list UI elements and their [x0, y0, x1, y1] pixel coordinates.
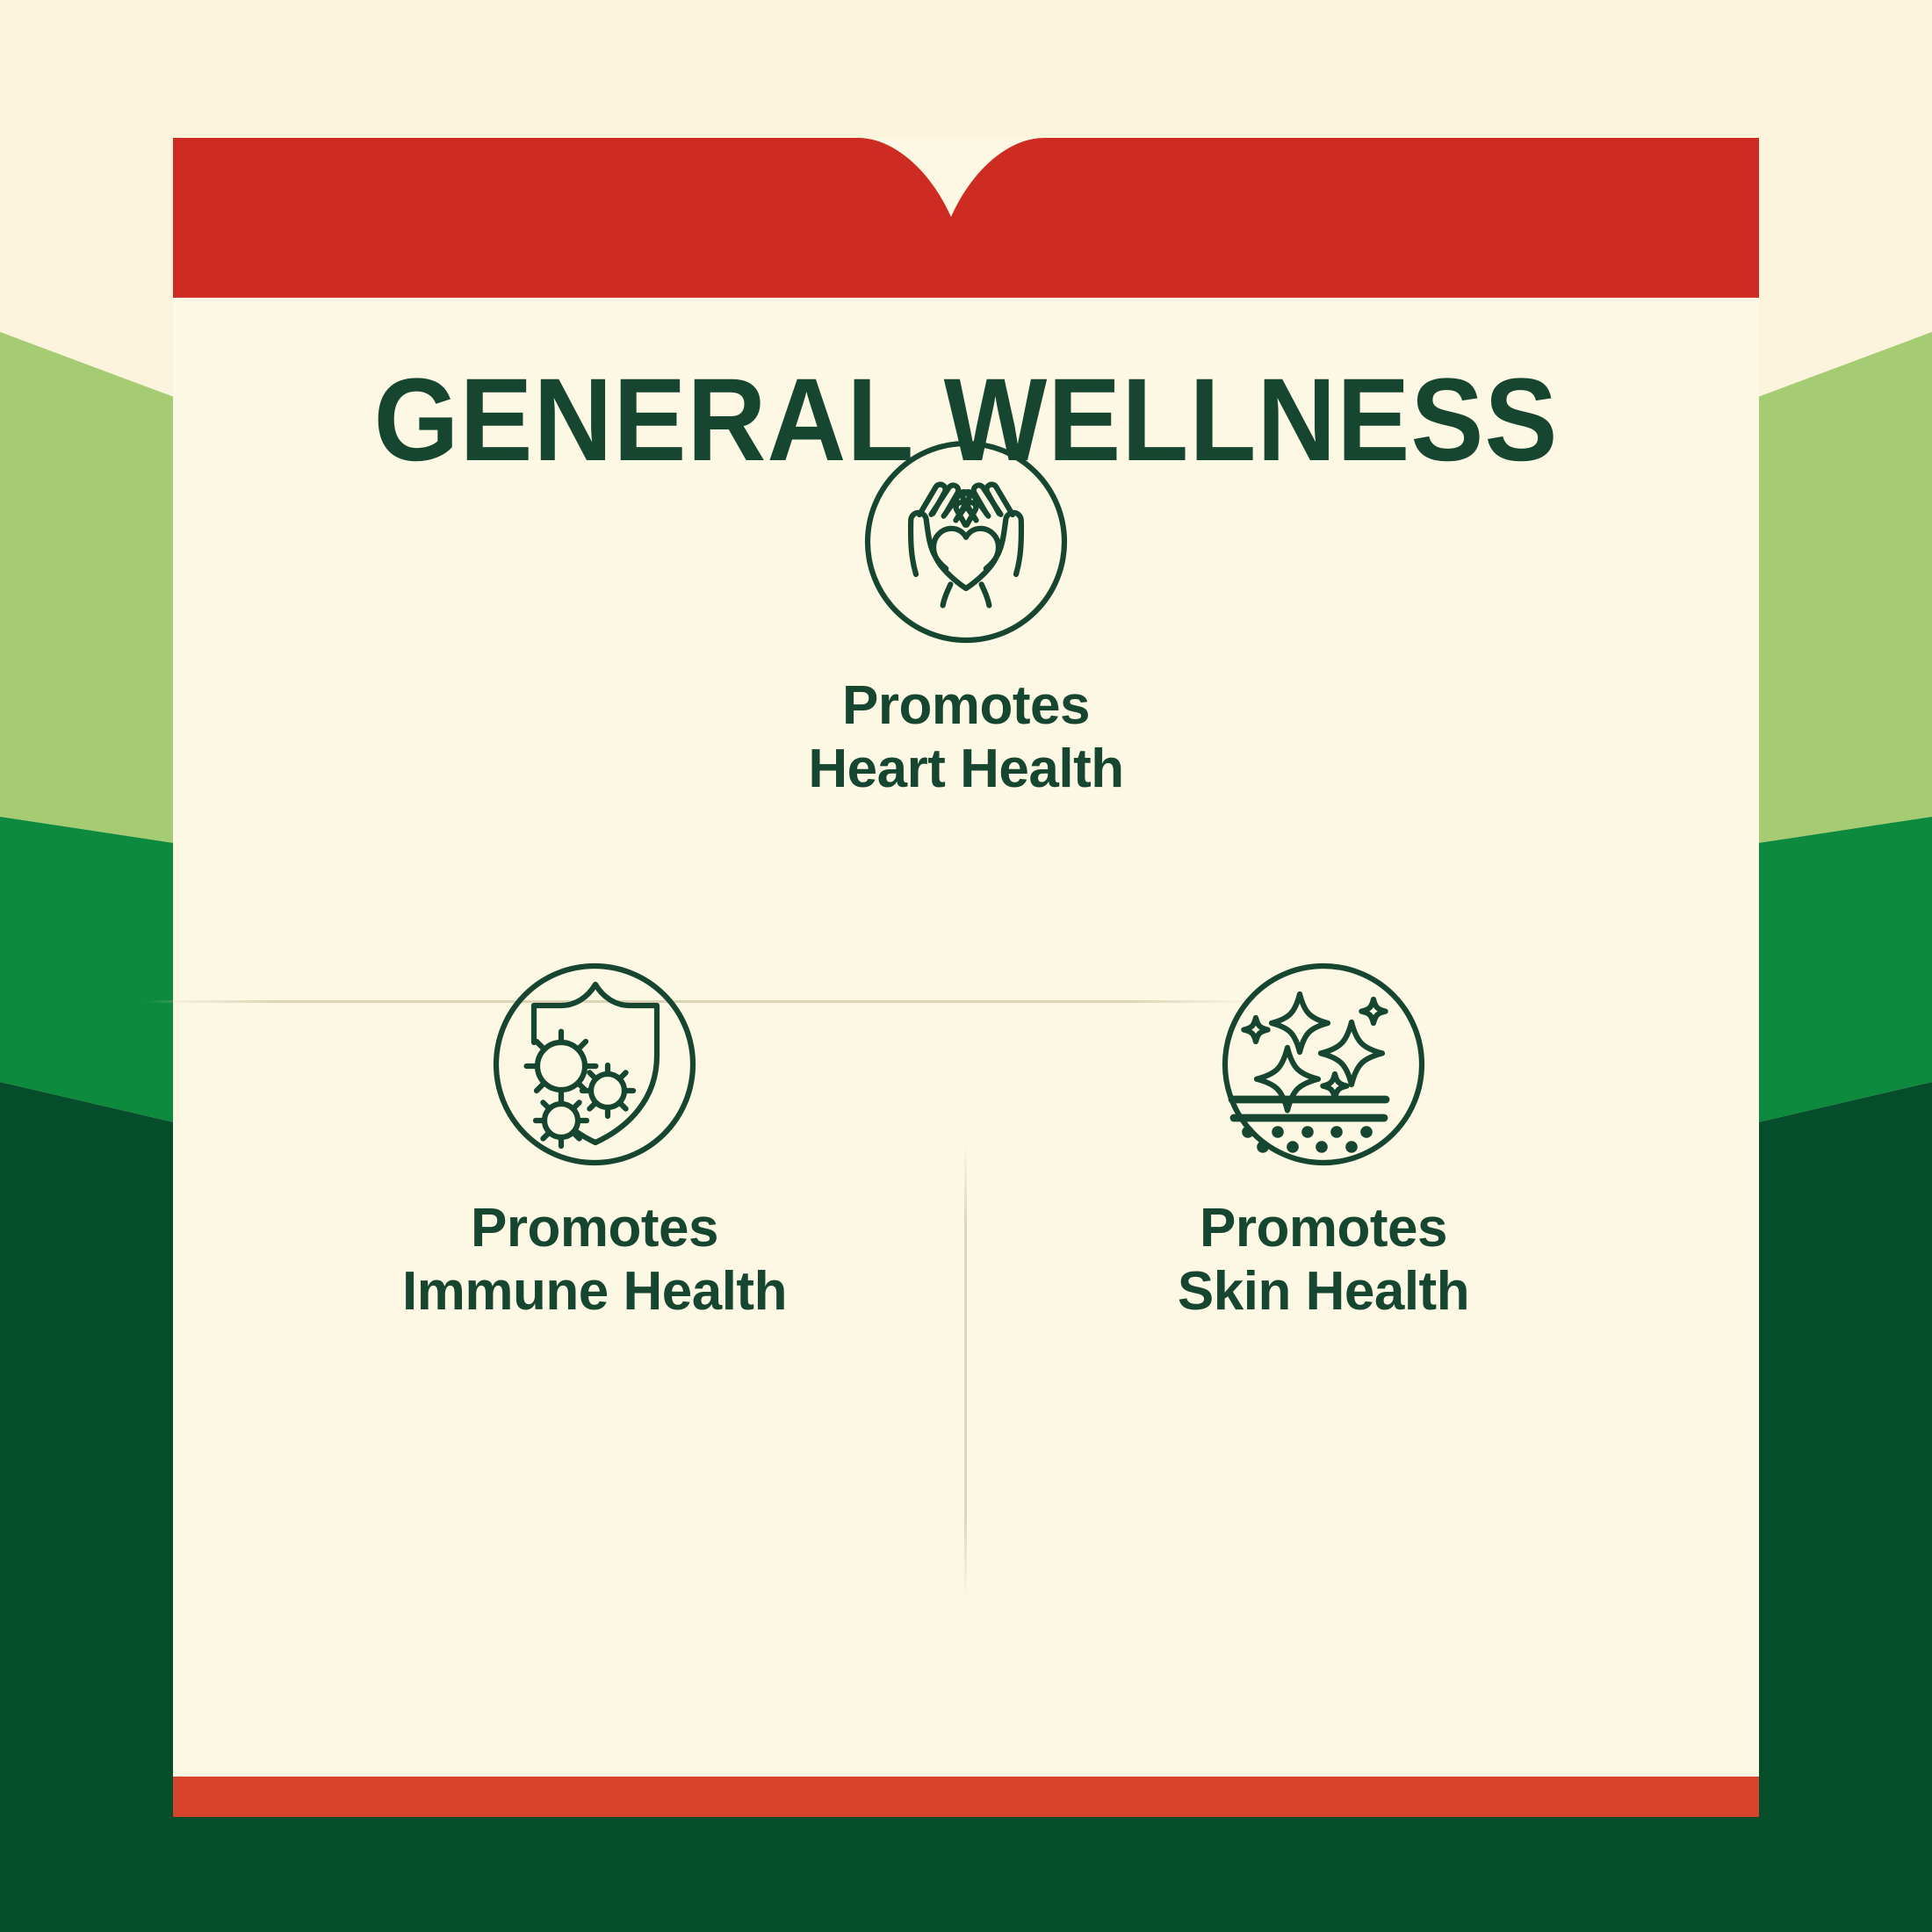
benefit-label-skin: Promotes Skin Health — [1016, 1197, 1631, 1323]
banner-notch-shape — [173, 138, 1759, 298]
hands-holding-heart-icon — [659, 436, 1273, 652]
benefit-label-heart: Promotes Heart Health — [659, 674, 1273, 801]
divider-vertical — [964, 1143, 967, 1600]
sparkle-small-left — [1244, 1018, 1267, 1042]
top-red-banner — [173, 138, 1759, 298]
sparkle-small-bottomright — [1323, 1074, 1346, 1098]
bottom-red-strip — [173, 1777, 1759, 1817]
right-mid-green-band — [1758, 817, 1932, 1122]
sparkle-large-right — [1321, 1022, 1382, 1085]
sparkle-small-topright — [1361, 999, 1385, 1023]
right-dark-green-band — [1758, 1082, 1932, 1932]
left-light-green-band — [0, 332, 174, 843]
shield-germs-icon — [287, 959, 902, 1174]
benefit-cell-heart[interactable]: Promotes Heart Health — [659, 436, 1273, 801]
infographic-canvas: GENERAL WELLNESS — [0, 0, 1932, 1932]
right-light-green-band — [1758, 332, 1932, 843]
germ-small — [536, 1095, 587, 1146]
benefit-cell-skin[interactable]: Promotes Skin Health — [1016, 959, 1631, 1323]
left-dark-green-band — [0, 1082, 174, 1932]
germ-medium — [582, 1065, 633, 1116]
footer-green-band — [0, 1817, 1932, 1932]
left-mid-green-band — [0, 817, 174, 1122]
sparkling-skin-icon — [1016, 959, 1631, 1174]
benefit-label-immune: Promotes Immune Health — [287, 1197, 902, 1323]
benefit-cell-immune[interactable]: Promotes Immune Health — [287, 959, 902, 1323]
sparkle-large-top — [1272, 994, 1328, 1052]
content-card: GENERAL WELLNESS — [173, 138, 1759, 1817]
